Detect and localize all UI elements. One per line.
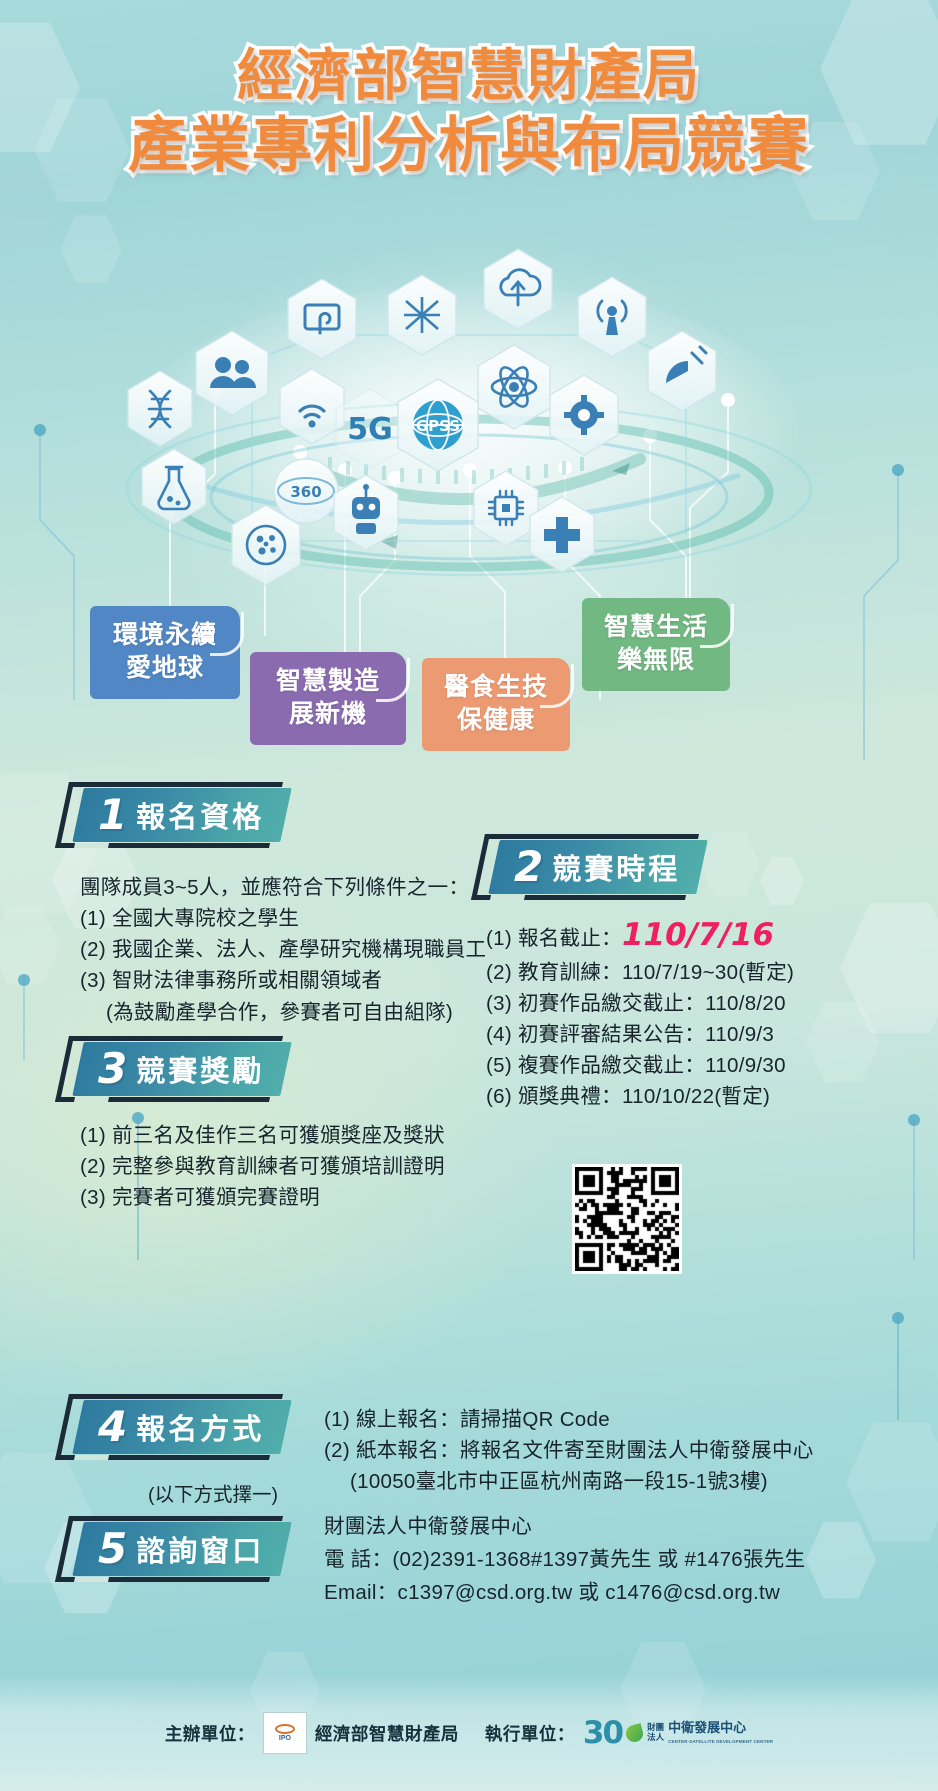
section-label: 競賽獎勵 xyxy=(136,1048,264,1090)
section-3-body: (1) 前三名及佳作三名可獲頒獎座及獎狀 (2) 完整參與教育訓練者可獲頒培訓證… xyxy=(80,1120,520,1213)
organizer-label: 主辦單位： xyxy=(165,1721,255,1746)
ipo-logo-text: IPO xyxy=(279,1735,291,1742)
badge-line-1: 醫食生技 xyxy=(438,671,554,704)
footer-organizer: 主辦單位： IPO 經濟部智慧財產局 xyxy=(165,1712,459,1754)
category-badge-medical-biotech: 醫食生技 保健康 xyxy=(422,658,570,751)
body-line: (4) 初賽評審結果公告：110/9/3 xyxy=(486,1019,926,1050)
section-banner: 5 諮詢窗口 xyxy=(78,1522,286,1576)
section-number: 1 xyxy=(98,794,126,836)
csd-name: 中衛發展中心 CENTER-SATELLITE DEVELOPMENT CENT… xyxy=(668,1721,773,1746)
badge-line-2: 展新機 xyxy=(266,698,390,731)
body-line: (1) 前三名及佳作三名可獲頒獎座及獎狀 xyxy=(80,1120,520,1151)
section-banner: 3 競賽獎勵 xyxy=(78,1042,286,1096)
section-5-header: 5 諮詢窗口 xyxy=(78,1522,286,1576)
body-line-email: Email：c1397@csd.org.tw 或 c1476@csd.org.t… xyxy=(324,1576,934,1609)
section-banner: 4 報名方式 xyxy=(78,1400,286,1454)
csd-logo-text: 財團 法人 xyxy=(647,1723,664,1743)
csd-prefix-1: 財團 xyxy=(647,1722,664,1732)
ipo-logo-icon: IPO xyxy=(263,1712,307,1754)
registration-qr-code[interactable] xyxy=(572,1164,682,1274)
section-banner: 1 報名資格 xyxy=(78,788,286,842)
body-line: (1) 線上報名：請掃描QR Code xyxy=(324,1404,924,1435)
section-2-header: 2 競賽時程 xyxy=(494,840,702,894)
body-line: (2) 我國企業、法人、產學研究機構現職員工 xyxy=(80,934,500,965)
svg-text:GPSS: GPSS xyxy=(416,417,460,435)
section-label: 報名資格 xyxy=(136,794,264,836)
body-line: (3) 完賽者可獲頒完賽證明 xyxy=(80,1182,520,1213)
section-number: 5 xyxy=(98,1528,126,1570)
title-line-1: 經濟部智慧財產局 xyxy=(0,46,938,109)
ipo-ring-icon xyxy=(275,1724,295,1734)
body-line-deadline: (1) 報名截止：110/7/16 xyxy=(486,915,926,957)
technology-hub-illustration: 360 5G GPSS xyxy=(0,235,938,625)
body-line: (2) 教育訓練：110/7/19~30(暫定) xyxy=(486,957,926,988)
deadline-label: (1) 報名截止： xyxy=(486,927,622,950)
organizer-name: 經濟部智慧財產局 xyxy=(315,1721,459,1746)
section-number: 4 xyxy=(98,1406,126,1448)
csd-logo-icon: 30 財團 法人 中衛發展中心 CENTER-SATELLITE DEVELOP… xyxy=(583,1718,773,1749)
svg-text:360: 360 xyxy=(290,483,321,501)
body-line-phone: 電 話：(02)2391-1368#1397黃先生 或 #1476張先生 xyxy=(324,1543,934,1576)
footer-executor: 執行單位： 30 財團 法人 中衛發展中心 CENTER-SATELLITE D… xyxy=(485,1718,773,1749)
body-line: (3) 初賽作品繳交截止：110/8/20 xyxy=(486,988,926,1019)
csd-leaf-icon xyxy=(624,1723,645,1744)
section-label: 報名方式 xyxy=(136,1406,264,1448)
body-line: (2) 完整參與教育訓練者可獲頒培訓證明 xyxy=(80,1151,520,1182)
section-5-body: 財團法人中衛發展中心 電 話：(02)2391-1368#1397黃先生 或 #… xyxy=(324,1510,934,1610)
body-line: (2) 紙本報名：將報名文件寄至財團法人中衛發展中心 xyxy=(324,1435,924,1466)
csd-name-en: CENTER-SATELLITE DEVELOPMENT CENTER xyxy=(668,1739,773,1744)
body-line: 團隊成員3~5人，並應符合下列條件之一： xyxy=(80,872,500,903)
deadline-date: 7/16 xyxy=(698,917,774,953)
section-4-note: (以下方式擇一) xyxy=(148,1478,278,1507)
body-line: (5) 複賽作品繳交截止：110/9/30 xyxy=(486,1050,926,1081)
body-line: (1) 全國大專院校之學生 xyxy=(80,903,500,934)
section-number: 2 xyxy=(514,846,542,888)
section-1-header: 1 報名資格 xyxy=(78,788,286,842)
section-label: 諮詢窗口 xyxy=(136,1528,264,1570)
badge-line-1: 智慧製造 xyxy=(266,665,390,698)
badge-line-1: 智慧生活 xyxy=(598,611,714,644)
category-badge-smart-manufacturing: 智慧製造 展新機 xyxy=(250,652,406,745)
badge-line-1: 環境永續 xyxy=(106,619,224,652)
section-4-header: 4 報名方式 xyxy=(78,1400,286,1454)
section-label: 競賽時程 xyxy=(552,846,680,888)
body-line: (3) 智財法律事務所或相關領域者 xyxy=(80,965,500,996)
body-line: (為鼓勵產學合作，參賽者可自由組隊) xyxy=(80,997,500,1028)
section-4-body: (1) 線上報名：請掃描QR Code (2) 紙本報名：將報名文件寄至財團法人… xyxy=(324,1404,924,1497)
category-badge-environment: 環境永續 愛地球 xyxy=(90,606,240,699)
body-line: (6) 頒獎典禮：110/10/22(暫定) xyxy=(486,1081,926,1112)
badge-line-2: 保健康 xyxy=(438,704,554,737)
section-number: 3 xyxy=(98,1048,126,1090)
badge-line-2: 愛地球 xyxy=(106,652,224,685)
deadline-year: 110/ xyxy=(622,917,698,953)
executor-label: 執行單位： xyxy=(485,1721,575,1746)
badge-line-2: 樂無限 xyxy=(598,644,714,677)
section-2-body: (1) 報名截止：110/7/16 (2) 教育訓練：110/7/19~30(暫… xyxy=(486,915,926,1112)
section-3-header: 3 競賽獎勵 xyxy=(78,1042,286,1096)
footer: 主辦單位： IPO 經濟部智慧財產局 執行單位： 30 財團 法人 中衛發展中心… xyxy=(0,1675,938,1791)
category-badge-smart-living: 智慧生活 樂無限 xyxy=(582,598,730,691)
body-line: 財團法人中衛發展中心 xyxy=(324,1510,934,1543)
poster-title: 經濟部智慧財產局 產業專利分析與布局競賽 xyxy=(0,46,938,180)
body-line: (10050臺北市中正區杭州南路一段15-1號3樓) xyxy=(324,1466,924,1497)
csd-prefix-2: 法人 xyxy=(647,1732,664,1742)
section-1-body: 團隊成員3~5人，並應符合下列條件之一： (1) 全國大專院校之學生 (2) 我… xyxy=(80,872,500,1028)
title-line-2: 產業專利分析與布局競賽 xyxy=(0,113,938,180)
section-banner: 2 競賽時程 xyxy=(494,840,702,894)
csd-name-cn: 中衛發展中心 xyxy=(668,1720,746,1735)
csd-30-mark: 30 xyxy=(583,1718,622,1749)
svg-text:5G: 5G xyxy=(347,412,393,447)
